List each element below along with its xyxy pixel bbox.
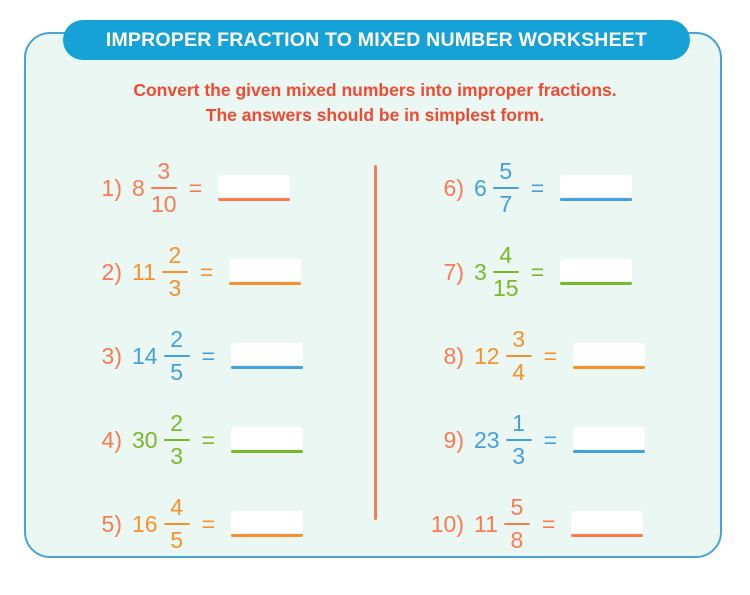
answer-input[interactable] — [573, 427, 645, 453]
answer-underline — [571, 534, 643, 537]
fraction-bar — [162, 271, 188, 273]
answer-input[interactable] — [231, 427, 303, 453]
mixed-number-fraction-part: 57 — [493, 159, 519, 217]
problem-row: 2)1123= — [78, 230, 378, 314]
mixed-number-fraction-part: 25 — [164, 327, 190, 385]
fraction-numerator: 3 — [512, 327, 525, 352]
mixed-number-fraction-part: 45 — [164, 495, 190, 553]
fraction-denominator: 4 — [512, 360, 525, 385]
mixed-number-whole-part: 8 — [132, 177, 145, 200]
problem-row: 10)1158= — [420, 482, 720, 566]
mixed-number-fraction-part: 58 — [504, 495, 530, 553]
answer-input-box[interactable] — [231, 427, 303, 449]
problem-row: 9)2313= — [420, 398, 720, 482]
problem-number-label: 1) — [78, 177, 122, 200]
fraction-bar — [506, 355, 532, 357]
equals-sign: = — [189, 177, 202, 200]
mixed-number-whole-part: 12 — [474, 345, 500, 368]
mixed-number-whole-part: 14 — [132, 345, 158, 368]
page-title: IMPROPER FRACTION TO MIXED NUMBER WORKSH… — [106, 29, 647, 52]
problem-number-label: 5) — [78, 513, 122, 536]
equals-sign: = — [544, 429, 557, 452]
problem-row: 4)3023= — [78, 398, 378, 482]
fraction-bar — [493, 271, 519, 273]
fraction-numerator: 4 — [499, 243, 512, 268]
equals-sign: = — [202, 345, 215, 368]
answer-input-box[interactable] — [573, 427, 645, 449]
equals-sign: = — [200, 261, 213, 284]
answer-input-box[interactable] — [231, 343, 303, 365]
fraction-denominator: 5 — [170, 360, 183, 385]
problem-number-label: 10) — [420, 513, 464, 536]
problem-column-left: 1)8310=2)1123=3)1425=4)3023=5)1645= — [78, 146, 378, 566]
problem-row: 6)657= — [420, 146, 720, 230]
instructions-block: Convert the given mixed numbers into imp… — [0, 78, 750, 128]
fraction-denominator: 8 — [510, 528, 523, 553]
fraction-bar — [164, 355, 190, 357]
fraction-numerator: 2 — [168, 243, 181, 268]
fraction-numerator: 2 — [170, 327, 183, 352]
fraction-bar — [493, 187, 519, 189]
answer-input[interactable] — [573, 343, 645, 369]
fraction-denominator: 3 — [512, 444, 525, 469]
answer-underline — [231, 534, 303, 537]
answer-input-box[interactable] — [229, 259, 301, 281]
equals-sign: = — [531, 177, 544, 200]
problem-number-label: 3) — [78, 345, 122, 368]
answer-input-box[interactable] — [573, 343, 645, 365]
mixed-number-fraction-part: 23 — [164, 411, 190, 469]
answer-input[interactable] — [231, 511, 303, 537]
mixed-number-whole-part: 3 — [474, 261, 487, 284]
fraction-denominator: 7 — [499, 192, 512, 217]
answer-input[interactable] — [571, 511, 643, 537]
problem-number-label: 2) — [78, 261, 122, 284]
problem-number-label: 8) — [420, 345, 464, 368]
mixed-number-fraction-part: 415 — [493, 243, 519, 301]
problem-column-right: 6)657=7)3415=8)1234=9)2313=10)1158= — [420, 146, 720, 566]
mixed-number-fraction-part: 13 — [506, 411, 532, 469]
answer-underline — [560, 282, 632, 285]
instructions-line-1: Convert the given mixed numbers into imp… — [0, 78, 750, 103]
fraction-numerator: 1 — [512, 411, 525, 436]
answer-underline — [560, 198, 632, 201]
mixed-number-whole-part: 30 — [132, 429, 158, 452]
answer-underline — [229, 282, 301, 285]
answer-underline — [231, 450, 303, 453]
equals-sign: = — [542, 513, 555, 536]
fraction-numerator: 3 — [157, 159, 170, 184]
answer-input-box[interactable] — [571, 511, 643, 533]
mixed-number-whole-part: 6 — [474, 177, 487, 200]
fraction-bar — [504, 523, 530, 525]
equals-sign: = — [202, 429, 215, 452]
answer-input-box[interactable] — [560, 175, 632, 197]
equals-sign: = — [544, 345, 557, 368]
mixed-number-fraction-part: 23 — [162, 243, 188, 301]
instructions-line-2: The answers should be in simplest form. — [0, 103, 750, 128]
problem-number-label: 7) — [420, 261, 464, 284]
fraction-numerator: 4 — [170, 495, 183, 520]
fraction-bar — [506, 439, 532, 441]
problem-number-label: 4) — [78, 429, 122, 452]
problem-row: 1)8310= — [78, 146, 378, 230]
fraction-numerator: 2 — [170, 411, 183, 436]
problem-row: 8)1234= — [420, 314, 720, 398]
fraction-denominator: 15 — [493, 276, 519, 301]
answer-underline — [573, 366, 645, 369]
answer-input[interactable] — [218, 175, 290, 201]
fraction-numerator: 5 — [510, 495, 523, 520]
problem-row: 7)3415= — [420, 230, 720, 314]
answer-input-box[interactable] — [218, 175, 290, 197]
fraction-numerator: 5 — [499, 159, 512, 184]
answer-input[interactable] — [560, 175, 632, 201]
problem-number-label: 6) — [420, 177, 464, 200]
fraction-denominator: 5 — [170, 528, 183, 553]
equals-sign: = — [202, 513, 215, 536]
fraction-denominator: 10 — [151, 192, 177, 217]
problem-row: 5)1645= — [78, 482, 378, 566]
problem-number-label: 9) — [420, 429, 464, 452]
fraction-denominator: 3 — [168, 276, 181, 301]
fraction-denominator: 3 — [170, 444, 183, 469]
equals-sign: = — [531, 261, 544, 284]
problem-row: 3)1425= — [78, 314, 378, 398]
answer-input[interactable] — [560, 259, 632, 285]
mixed-number-whole-part: 16 — [132, 513, 158, 536]
worksheet-title-banner: IMPROPER FRACTION TO MIXED NUMBER WORKSH… — [63, 20, 690, 60]
answer-input[interactable] — [231, 343, 303, 369]
mixed-number-fraction-part: 310 — [151, 159, 177, 217]
mixed-number-whole-part: 11 — [132, 261, 156, 284]
answer-underline — [218, 198, 290, 201]
answer-underline — [231, 366, 303, 369]
fraction-bar — [151, 187, 177, 189]
answer-underline — [573, 450, 645, 453]
answer-input-box[interactable] — [231, 511, 303, 533]
mixed-number-whole-part: 23 — [474, 429, 500, 452]
mixed-number-whole-part: 11 — [474, 513, 498, 536]
fraction-bar — [164, 439, 190, 441]
answer-input[interactable] — [229, 259, 301, 285]
mixed-number-fraction-part: 34 — [506, 327, 532, 385]
answer-input-box[interactable] — [560, 259, 632, 281]
fraction-bar — [164, 523, 190, 525]
